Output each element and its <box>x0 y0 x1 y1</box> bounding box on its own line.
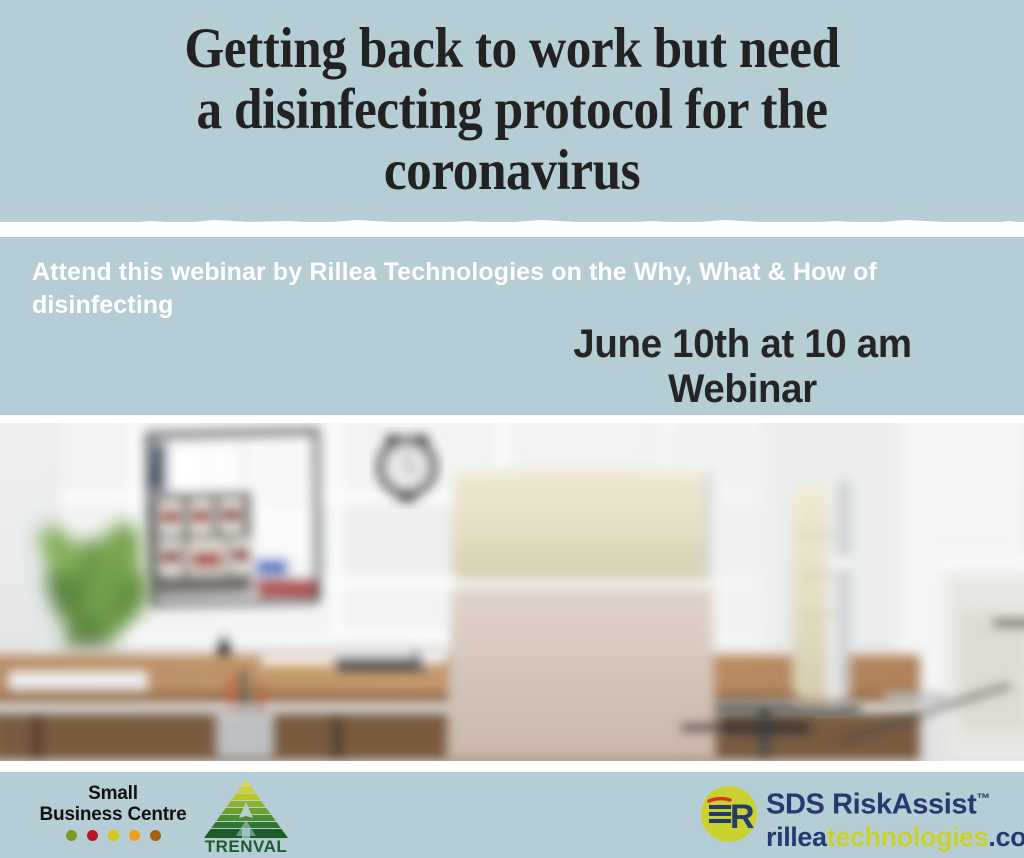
dot-orange-icon <box>129 830 140 841</box>
subtitle-band: Attend this webinar by Rillea Technologi… <box>0 237 1024 415</box>
trenval-logo: TRENVAL <box>196 776 296 854</box>
sds-logo-text: SDS RiskAssist™ rilleatechnologies.com <box>766 782 1024 852</box>
webinar-description: Attend this webinar by Rillea Technologi… <box>32 256 942 322</box>
trademark-symbol: ™ <box>976 790 990 806</box>
rillea-website-url: rilleatechnologies.com <box>766 822 1024 852</box>
small-business-centre-logo: Small Business Centre <box>22 783 204 841</box>
sbc-line-1: Small <box>22 783 204 804</box>
url-technologies: technologies <box>827 822 989 852</box>
url-dotcom: .com <box>988 822 1024 852</box>
sbc-dot-row <box>22 830 204 841</box>
sds-riskassist-logo: R SDS RiskAssist™ rilleatechnologies.com <box>700 782 1012 848</box>
sds-product-name: SDS RiskAssist™ <box>766 782 1024 822</box>
rillea-r-mark-icon: R <box>700 785 758 843</box>
trenval-wordmark: TRENVAL <box>205 837 288 854</box>
dot-yellow-icon <box>108 830 119 841</box>
dot-red-icon <box>87 830 98 841</box>
footer-band: Small Business Centre <box>0 772 1024 858</box>
headline-band: Getting back to work but need a disinfec… <box>0 0 1024 222</box>
sbc-line-2: Business Centre <box>22 804 204 825</box>
sds-product-label: SDS RiskAssist <box>766 789 976 821</box>
page-title: Getting back to work but need a disinfec… <box>51 18 973 201</box>
event-date: June 10th at 10 am <box>573 322 911 366</box>
url-rillea: rillea <box>766 822 827 852</box>
dot-green-icon <box>66 830 77 841</box>
svg-text:R: R <box>730 798 755 836</box>
webinar-poster: Getting back to work but need a disinfec… <box>0 0 1024 858</box>
trenval-tree-icon <box>196 780 296 840</box>
office-photo <box>0 423 1024 761</box>
event-details: June 10th at 10 am Webinar <box>500 322 985 412</box>
event-format: Webinar <box>500 367 985 412</box>
dot-brown-icon <box>150 830 161 841</box>
